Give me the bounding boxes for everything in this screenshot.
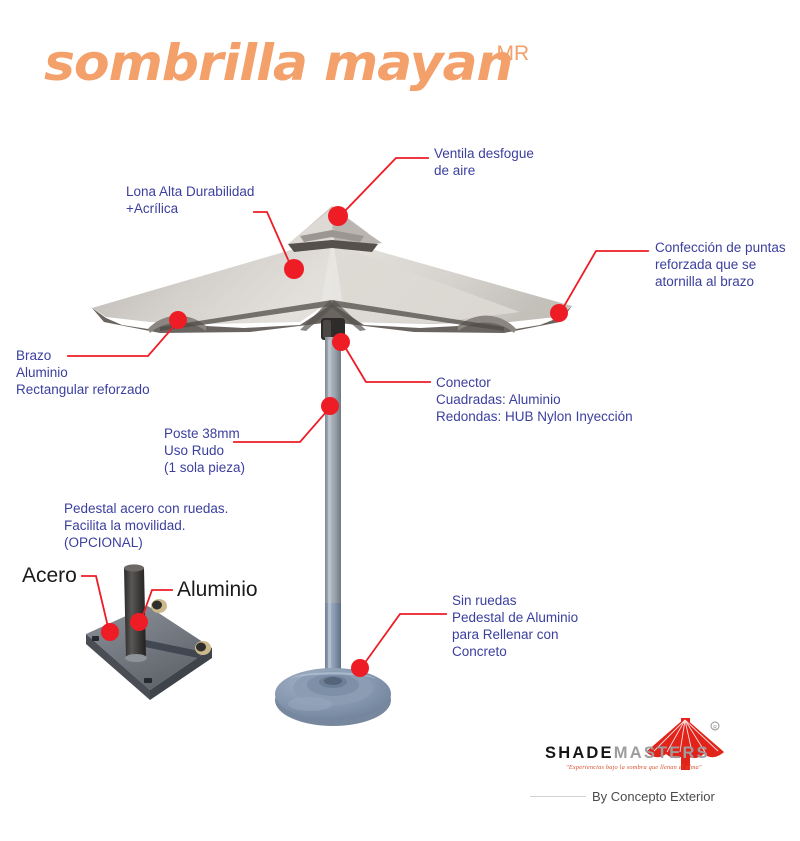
svg-text:R: R (713, 725, 717, 731)
brand-wordmark-shade: SHADE (545, 744, 614, 762)
connector-hub (321, 318, 345, 340)
callout-label-confeccion: Confección de puntas reforzada que se at… (655, 239, 786, 290)
logo-divider (530, 796, 586, 797)
diagram-page: sombrilla mayanMR (0, 0, 800, 841)
brand-logo: R SHADEMASTERS "Experiencias bajo la som… (530, 712, 770, 792)
aluminum-base (275, 668, 391, 726)
caster-wheel (195, 641, 211, 655)
callout-label-conector: Conector Cuadradas: Aluminio Redondas: H… (436, 374, 633, 425)
brand-wordmark-masters: MASTERS (614, 744, 710, 762)
callout-label-aluminio: Aluminio (177, 578, 258, 602)
callout-label-brazo: Brazo Aluminio Rectangular reforzado (16, 347, 150, 398)
brand-tagline: "Experiencias bajo la sombra que llenan … (566, 764, 702, 771)
callout-label-lona: Lona Alta Durabilidad +Acrílica (126, 183, 254, 217)
umbrella-pole (325, 337, 341, 675)
callout-label-ventila: Ventila desfogue de aire (434, 145, 534, 179)
callout-label-acero: Acero (22, 564, 77, 588)
callout-label-poste: Poste 38mm Uso Rudo (1 sola pieza) (164, 425, 245, 476)
brand-byline: By Concepto Exterior (592, 789, 715, 804)
brand-wordmark: SHADEMASTERS (545, 744, 710, 763)
callout-label-pedestal-ruedas: Pedestal acero con ruedas. Facilita la m… (64, 500, 228, 551)
canopy-vent (288, 206, 382, 252)
callout-label-sin-ruedas: Sin ruedas Pedestal de Aluminio para Rel… (452, 592, 578, 660)
caster-wheel (151, 599, 167, 613)
